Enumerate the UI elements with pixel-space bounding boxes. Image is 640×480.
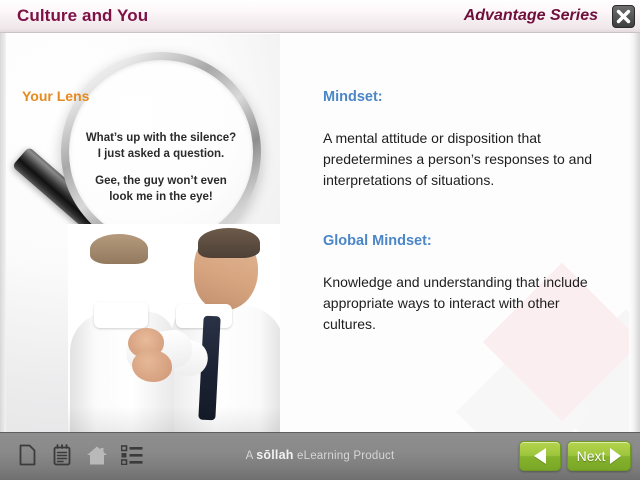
your-lens-label: Your Lens (22, 88, 89, 104)
global-mindset-heading: Global Mindset: (323, 233, 432, 249)
page-title: Culture and You (17, 6, 148, 26)
triangle-right-icon (610, 448, 621, 464)
left-man-hair (90, 234, 148, 264)
quote-line-1: What’s up with the silence? (86, 132, 236, 144)
title-bar: Culture and You Advantage Series (0, 0, 640, 33)
quote-line-4: look me in the eye! (109, 191, 213, 203)
quote-line-3: Gee, the guy won’t even (95, 175, 227, 187)
right-man-hair (198, 228, 260, 258)
next-button-label: Next (577, 448, 606, 464)
left-man-hand (132, 350, 172, 382)
sollah-brand: sōllah (256, 448, 293, 462)
mindset-body: A mental attitude or disposition that pr… (323, 128, 613, 191)
quote-spacer (78, 162, 244, 173)
next-button[interactable]: Next (567, 441, 631, 471)
photo-shadow (68, 406, 280, 432)
back-button[interactable] (519, 441, 561, 471)
global-mindset-body: Knowledge and understanding that include… (323, 272, 613, 335)
triangle-left-icon (534, 448, 546, 464)
player-toolbar: A sōllah eLearning Product Next (0, 432, 640, 480)
lens-illustration-panel: Your Lens What’s up with the silence? I … (6, 34, 280, 432)
quote-line-2: I just asked a question. (98, 148, 225, 160)
businessmen-photo (68, 224, 280, 432)
mindset-heading: Mindset: (323, 89, 383, 105)
close-button[interactable] (612, 5, 635, 28)
definitions-panel: Mindset: A mental attitude or dispositio… (306, 34, 616, 432)
series-label: Advantage Series (464, 7, 598, 25)
lens-quote-text: What’s up with the silence? I just asked… (78, 130, 244, 205)
slide-stage: Your Lens What’s up with the silence? I … (6, 34, 629, 432)
course-player: Culture and You Advantage Series Your Le… (0, 0, 640, 480)
frame-edge-right (629, 33, 640, 432)
credit-suffix: eLearning Product (297, 450, 394, 462)
credit-prefix: A (246, 450, 253, 462)
left-man-collar (94, 302, 148, 328)
close-x-icon (613, 6, 634, 27)
